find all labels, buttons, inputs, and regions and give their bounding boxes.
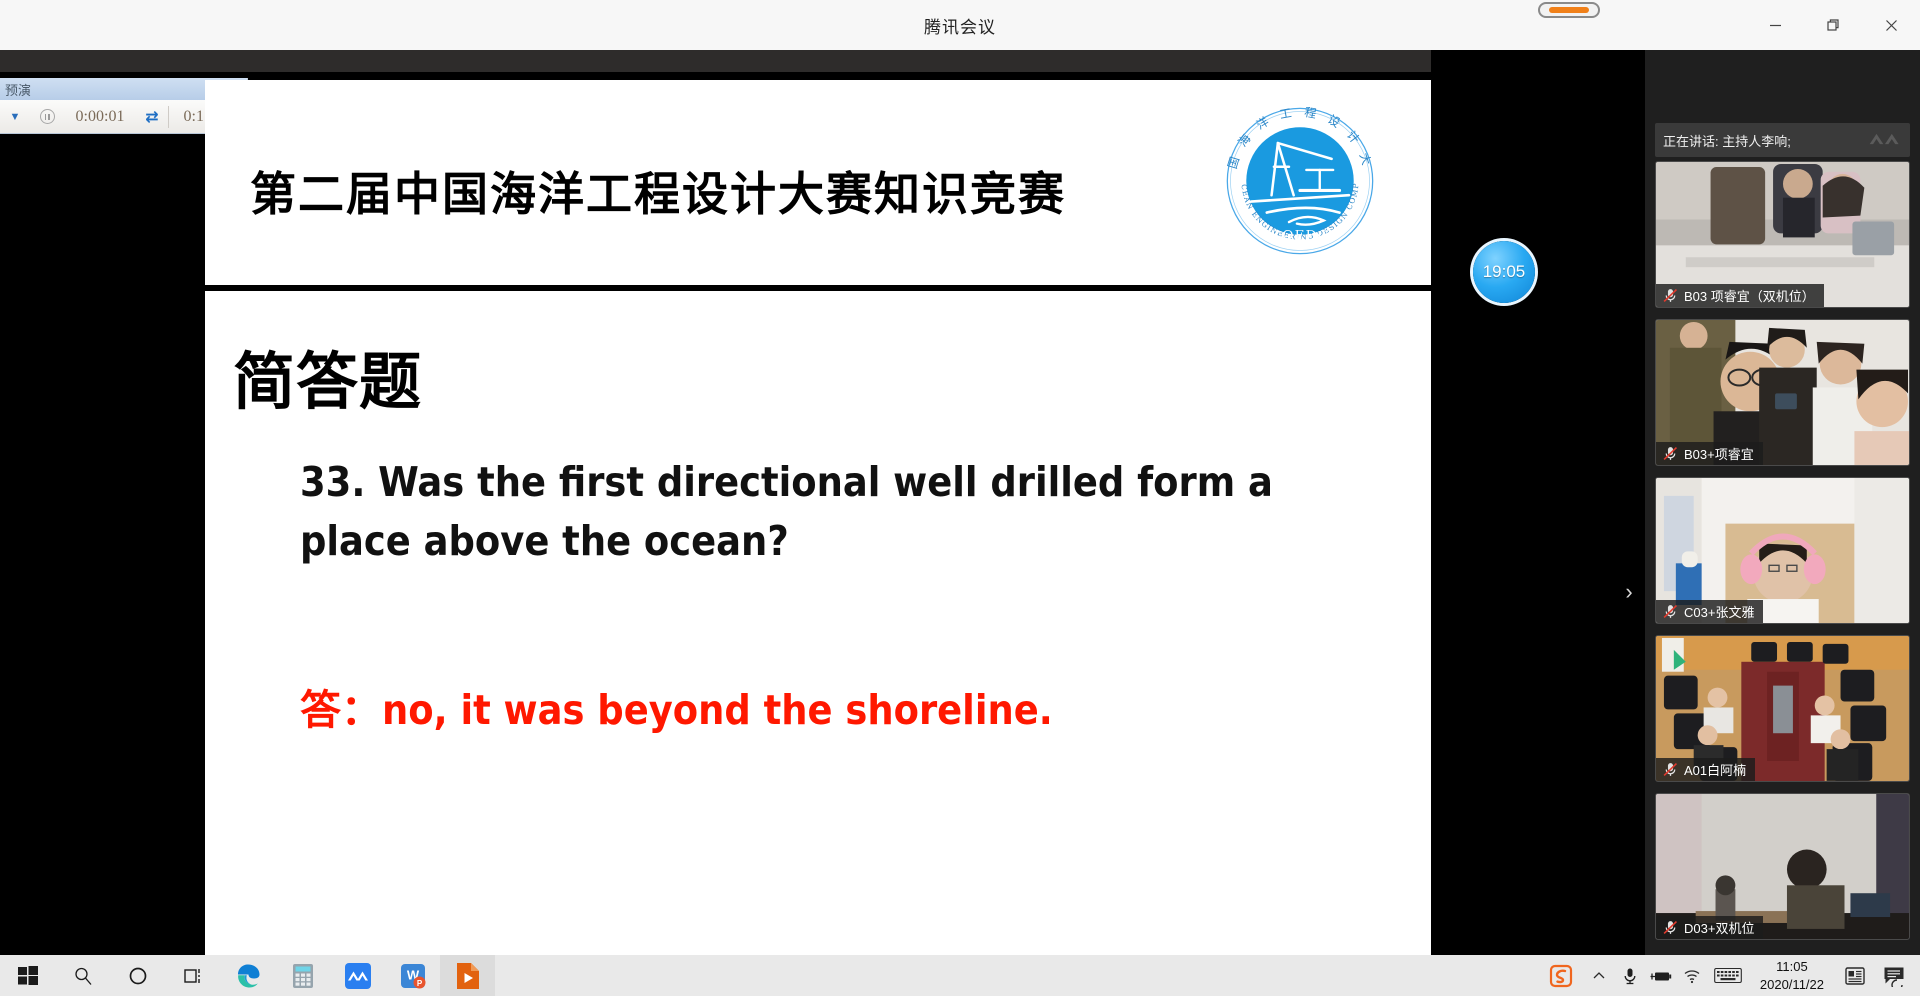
close-button[interactable] [1862, 0, 1920, 50]
svg-text:COEDC: COEDC [1271, 228, 1329, 243]
microphone-icon[interactable] [1615, 955, 1646, 996]
microphone-muted-icon [1662, 761, 1679, 778]
participant-name: D03+双机位 [1684, 918, 1754, 937]
cortana-icon[interactable] [110, 955, 165, 996]
calculator-icon[interactable] [275, 955, 330, 996]
countdown-timer: 19:05 [1473, 241, 1535, 303]
keyboard-icon[interactable] [1708, 955, 1748, 996]
slide-body: 简答题 33. Was the first directional well d… [205, 291, 1431, 737]
clock-time: 11:05 [1776, 958, 1808, 976]
microphone-muted-icon [1662, 603, 1679, 620]
video-sidebar: 正在讲话: 主持人李响; [1645, 50, 1920, 955]
tile-label: C03+张文雅 [1656, 600, 1763, 623]
microphone-muted-icon [1662, 919, 1679, 936]
tile-label: B03+项睿宜 [1656, 442, 1763, 465]
window-title: 腾讯会议 [924, 13, 996, 38]
microphone-muted-icon [1662, 287, 1679, 304]
rehearsal-elapsed-time: 0:00:01 [64, 100, 136, 133]
rehearsal-label: 预演 [5, 80, 31, 99]
tile-label: B03 项睿宜（双机位） [1656, 284, 1824, 307]
search-icon[interactable] [55, 955, 110, 996]
powerpoint-icon[interactable] [440, 955, 495, 996]
slide-section-heading: 简答题 [233, 331, 1431, 421]
video-tile[interactable]: B03+项睿宜 [1655, 319, 1910, 466]
repeat-icon[interactable]: ⇄ [136, 100, 168, 133]
windows-start-icon[interactable] [0, 955, 55, 996]
svg-text:P: P [416, 979, 422, 988]
wifi-icon[interactable] [1677, 955, 1708, 996]
answer-body: no, it was beyond the shoreline. [382, 686, 1053, 734]
shared-screen-area: 预演 ▼ 0:00:01 ⇄ 0:17:10 第二届中国海洋工程设计大赛知识竞赛 [0, 50, 1920, 955]
window-controls [1746, 0, 1920, 50]
pause-icon[interactable] [30, 100, 64, 133]
wps-presentation-icon[interactable]: W P [385, 955, 440, 996]
video-tile[interactable]: C03+张文雅 [1655, 477, 1910, 624]
answer-prefix: 答： [300, 686, 382, 734]
sogou-ime-icon[interactable] [1538, 955, 1584, 996]
rehearsal-dropdown-caret[interactable]: ▼ [0, 100, 30, 133]
video-tile-list: B03 项睿宜（双机位） [1645, 161, 1920, 940]
presentation-slide: 第二届中国海洋工程设计大赛知识竞赛 中 国 海 洋 工 程 设 计 大 赛 CH… [205, 80, 1431, 955]
maximize-button[interactable] [1804, 0, 1862, 50]
video-tile[interactable]: B03 项睿宜（双机位） [1655, 161, 1910, 308]
participant-name: A01白阿楠 [1684, 760, 1746, 779]
taskbar-system-tray: 11:05 2020/11/22 [1538, 955, 1920, 996]
participant-name: B03 项睿宜（双机位） [1684, 286, 1815, 305]
battery-icon[interactable] [1646, 955, 1677, 996]
slide-question-text: 33. Was the first directional well drill… [300, 453, 1300, 572]
participant-name: C03+张文雅 [1684, 602, 1754, 621]
taskbar-pinned-apps: W P [0, 955, 495, 996]
participant-name: B03+项睿宜 [1684, 444, 1754, 463]
recording-indicator[interactable] [1538, 2, 1600, 18]
news-icon[interactable] [1836, 955, 1874, 996]
clock-date: 2020/11/22 [1760, 976, 1824, 994]
tencent-meeting-watermark-icon [1868, 130, 1902, 148]
task-view-icon[interactable] [165, 955, 220, 996]
slide-header: 第二届中国海洋工程设计大赛知识竞赛 中 国 海 洋 工 程 设 计 大 赛 CH… [205, 80, 1431, 285]
tencent-meeting-icon[interactable] [330, 955, 385, 996]
screen-share-letterbox [1431, 50, 1645, 955]
video-tile[interactable]: D03+双机位 [1655, 793, 1910, 940]
active-speaker-banner: 正在讲话: 主持人李响; [1655, 123, 1910, 157]
chevron-up-icon[interactable] [1584, 955, 1615, 996]
slide-answer-text: 答：no, it was beyond the shoreline. [300, 684, 1431, 737]
video-tile[interactable]: A01白阿楠 [1655, 635, 1910, 782]
minimize-button[interactable] [1746, 0, 1804, 50]
screen-share-top-strip [0, 50, 1633, 72]
active-speaker-label: 正在讲话: 主持人李响; [1663, 131, 1791, 150]
windows-taskbar: W P [0, 955, 1920, 996]
action-center-icon[interactable] [1874, 955, 1914, 996]
coedc-logo-icon: 中 国 海 洋 工 程 设 计 大 赛 CHINA OCEAN ENGINEER… [1221, 102, 1379, 260]
edge-browser-icon[interactable] [220, 955, 275, 996]
taskbar-clock[interactable]: 11:05 2020/11/22 [1748, 955, 1836, 996]
microphone-muted-icon [1662, 445, 1679, 462]
countdown-timer-value: 19:05 [1483, 262, 1526, 282]
slide-title: 第二届中国海洋工程设计大赛知识竞赛 [250, 158, 1066, 224]
window-title-bar: 腾讯会议 [0, 0, 1920, 50]
collapse-panel-chevron-icon[interactable]: › [1618, 575, 1640, 609]
tile-label: A01白阿楠 [1656, 758, 1755, 781]
tile-label: D03+双机位 [1656, 916, 1763, 939]
